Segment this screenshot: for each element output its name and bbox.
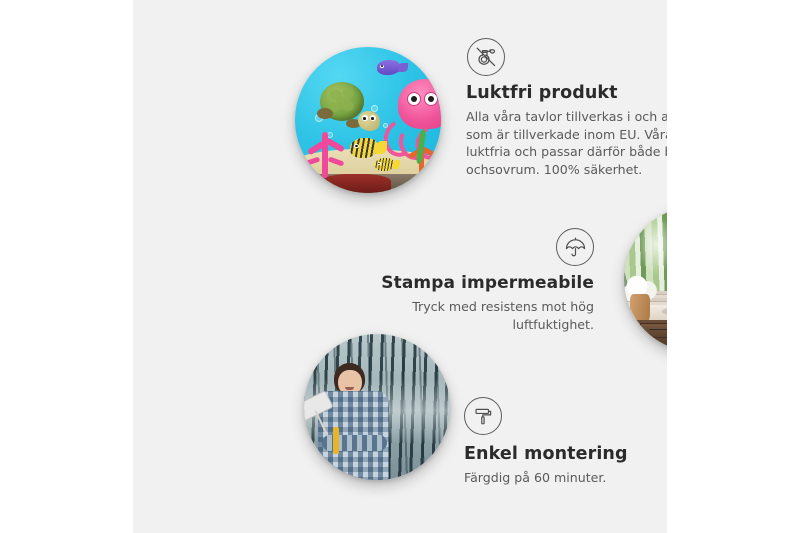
umbrella-icon — [556, 228, 594, 266]
fish-illustration — [375, 158, 394, 171]
feature-body: Färgdig på 60 minuter. — [464, 469, 667, 487]
feature-mounting: Enkel montering Färgdig på 60 minuter. — [464, 397, 667, 487]
product-photo-underwater — [295, 47, 441, 193]
fish-illustration — [377, 60, 400, 75]
feature-title: Luktfri produkt — [466, 83, 667, 103]
content-panel: Luktfri produkt Alla våra tavlor tillver… — [133, 0, 667, 533]
turtle-eye — [370, 115, 376, 121]
wood-vanity-cabinet — [636, 320, 667, 352]
turtle-fin — [317, 108, 333, 119]
tool-handle — [333, 427, 339, 453]
crossed-arms — [322, 435, 387, 452]
promo-page: Luktfri produkt Alla våra tavlor tillver… — [0, 0, 800, 533]
turtle-head — [358, 111, 380, 131]
perfume-bottle-crossed-out-icon — [467, 38, 505, 76]
cabinet-drawer — [640, 323, 667, 338]
product-photo-forest-installer — [304, 334, 450, 480]
feature-waterproof: Stampa impermeabile Tryck med resistens … — [338, 228, 594, 333]
paint-roller-icon — [464, 397, 502, 435]
fish-illustration — [350, 138, 378, 158]
woman-illustration — [313, 360, 404, 480]
coral-illustration — [302, 132, 349, 179]
product-photo-bathroom — [624, 206, 667, 352]
octopus-eye — [407, 92, 421, 106]
octopus-eye — [424, 92, 438, 106]
feature-odorless: Luktfri produkt Alla våra tavlor tillver… — [466, 38, 667, 178]
sea-turtle-illustration — [315, 82, 376, 132]
feature-title: Enkel montering — [464, 444, 667, 464]
feature-body: Alla våra tavlor tillverkas i och av pro… — [466, 108, 667, 178]
turtle-eye — [362, 115, 368, 121]
feature-body: Tryck med resistens mot hög luftfuktighe… — [338, 298, 594, 333]
feature-title: Stampa impermeabile — [338, 273, 594, 293]
